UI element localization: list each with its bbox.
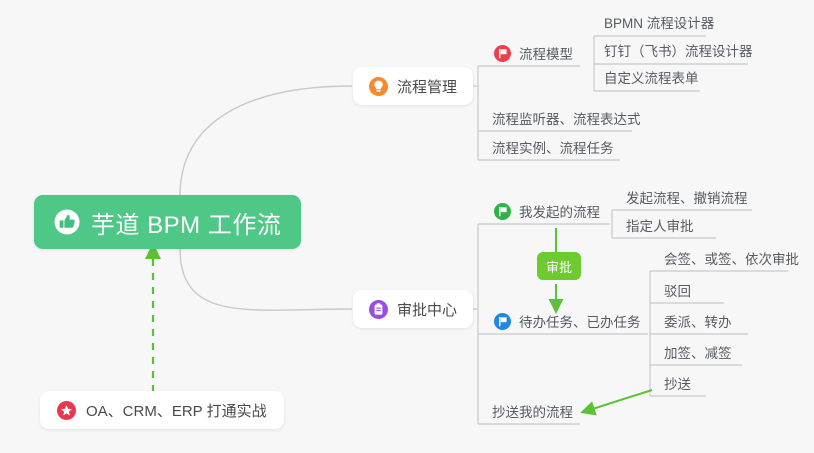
node-label-custom-process-form: 自定义流程表单 [604,67,699,87]
node-dingtalk-feishu-designer[interactable]: 钉钉（飞书）流程设计器 [600,37,757,63]
node-delegate-transfer[interactable]: 委派、转办 [660,308,736,334]
clipboard-icon [369,300,388,319]
node-label-countersign-orsign-sequential: 会签、或签、依次审批 [664,248,799,268]
flag-icon [494,45,511,62]
callout-label: OA、CRM、ERP 打通实战 [86,400,267,421]
tag-node-approval[interactable]: 审批 [537,252,581,280]
node-process-instance-task[interactable]: 流程实例、流程任务 [488,134,618,160]
node-cc[interactable]: 抄送 [660,370,695,396]
node-label-process-listener-expression: 流程监听器、流程表达式 [492,108,641,128]
mindmap-canvas: 芋道 BPM 工作流 OA、CRM、ERP 打通实战 流程管理 [0,0,814,453]
flag-icon [494,203,511,220]
node-bpmn-designer[interactable]: BPMN 流程设计器 [600,9,718,35]
arrow-cc-to-cc-mine [583,390,652,412]
node-label-my-initiated-process: 我发起的流程 [519,201,600,221]
node-label-add-remove-sign: 加签、减签 [664,342,732,362]
node-assignee-approval[interactable]: 指定人审批 [622,212,698,238]
node-label-start-cancel-process: 发起流程、撤销流程 [626,187,748,207]
node-label-dingtalk-feishu-designer: 钉钉（飞书）流程设计器 [604,40,753,60]
connector-root-to-approval-center [180,248,352,310]
node-label-cc: 抄送 [664,373,691,393]
node-process-model[interactable]: 流程模型 [490,40,577,66]
branch-node-process-management[interactable]: 流程管理 [353,67,473,105]
node-cc-to-me-process[interactable]: 抄送我的流程 [488,398,577,424]
node-countersign-orsign-sequential[interactable]: 会签、或签、依次审批 [660,245,803,271]
node-start-cancel-process[interactable]: 发起流程、撤销流程 [622,184,752,210]
node-label-process-model: 流程模型 [519,43,573,63]
branch-node-approval-center[interactable]: 审批中心 [353,290,473,328]
root-node[interactable]: 芋道 BPM 工作流 [34,195,301,249]
node-process-listener-expression[interactable]: 流程监听器、流程表达式 [488,105,645,131]
node-label-reject: 驳回 [664,280,691,300]
node-label-cc-to-me-process: 抄送我的流程 [492,401,573,421]
node-label-todo-done-tasks: 待办任务、已办任务 [519,311,641,331]
flag-icon [494,313,511,330]
tag-label: 审批 [546,257,572,276]
node-label-bpmn-designer: BPMN 流程设计器 [604,12,714,32]
node-label-process-instance-task: 流程实例、流程任务 [492,137,614,157]
root-label: 芋道 BPM 工作流 [91,205,281,240]
node-label-assignee-approval: 指定人审批 [626,215,694,235]
thumbs-up-icon [54,209,80,235]
node-label-delegate-transfer: 委派、转办 [664,311,732,331]
star-icon [57,401,76,420]
lightbulb-icon [369,77,388,96]
node-custom-process-form[interactable]: 自定义流程表单 [600,64,703,90]
branch-label-approval-center: 审批中心 [397,299,457,320]
callout-node[interactable]: OA、CRM、ERP 打通实战 [40,391,284,429]
node-reject[interactable]: 驳回 [660,277,695,303]
connector-root-to-process-management [180,86,352,196]
branch-label-process-management: 流程管理 [397,76,457,97]
node-add-remove-sign[interactable]: 加签、减签 [660,339,736,365]
node-todo-done-tasks[interactable]: 待办任务、已办任务 [490,308,645,334]
node-my-initiated-process[interactable]: 我发起的流程 [490,198,604,224]
